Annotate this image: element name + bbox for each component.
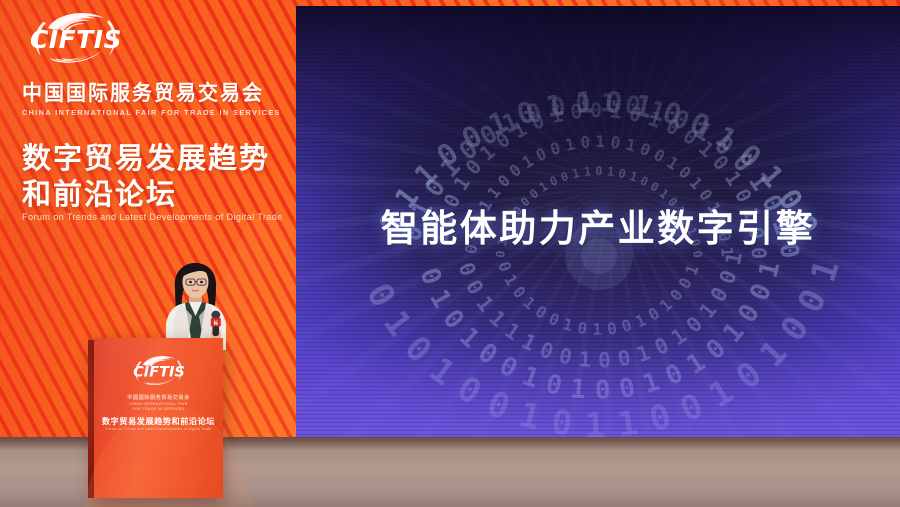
podium-ciftis-wordmark: CIFTIS (133, 364, 185, 380)
organization-name-en: CHINA INTERNATIONAL FAIR FOR TRADE IN SE… (22, 108, 282, 117)
conference-stage-photo: CIFTIS 中国国际服务贸易交易会 CHINA INTERNATIONAL F… (0, 0, 900, 507)
ciftis-globe-swoosh-icon: CIFTIS (22, 6, 130, 68)
podium-forum-title-en: Forum on Trends and Latest Developments … (94, 427, 223, 431)
forum-title-line2: 和前沿论坛 (22, 176, 322, 212)
podium-organization-en-line2: FOR TRADE IN SERVICES (94, 407, 223, 412)
screen-headline: 智能体助力产业数字引擎 (296, 198, 900, 252)
podium-forum-title-cn: 数字贸易发展趋势和前沿论坛 (94, 416, 223, 427)
organization-name-cn: 中国国际服务贸易交易会 (22, 76, 282, 106)
forum-subtitle-en: Forum on Trends and Latest Developments … (22, 212, 283, 222)
ciftis-wordmark: CIFTIS (30, 25, 122, 54)
screen-vignette-top (296, 6, 900, 204)
led-presentation-screen: 0110010110100101001010100101001011010 01… (296, 6, 900, 437)
speaker-figure: 标 (148, 258, 244, 350)
forum-title: 数字贸易发展趋势 和前沿论坛 (22, 140, 322, 212)
podium-ciftis-logo-icon: CIFTIS (127, 352, 191, 388)
podium: CIFTIS 中国国际服务贸易交易会 CHINA INTERNATIONAL F… (94, 338, 223, 498)
ciftis-branding-block: CIFTIS 中国国际服务贸易交易会 CHINA INTERNATIONAL F… (22, 6, 282, 117)
svg-text:标: 标 (213, 320, 219, 327)
forum-title-line1: 数字贸易发展趋势 (22, 140, 322, 176)
podium-organization-cn: 中国国际服务贸易交易会 (94, 394, 223, 401)
